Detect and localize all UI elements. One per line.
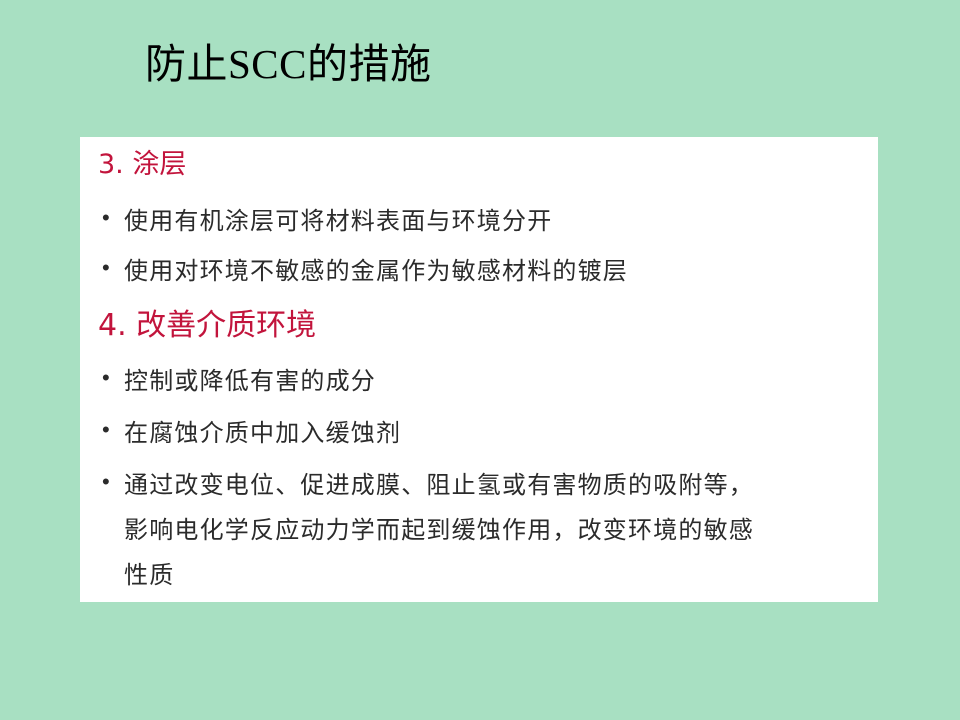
bullet-icon: • — [98, 411, 124, 449]
slide-canvas: 防止SCC的措施 3. 涂层 • 使用有机涂层可将材料表面与环境分开 • 使用对… — [0, 0, 960, 720]
content-card-inner: 3. 涂层 • 使用有机涂层可将材料表面与环境分开 • 使用对环境不敏感的金属作… — [80, 137, 878, 602]
list-item: • 通过改变电位、促进成膜、阻止氢或有害物质的吸附等， 影响电化学反应动力学而起… — [98, 463, 858, 598]
bullet-icon: • — [98, 249, 124, 287]
list-item-text: 通过改变电位、促进成膜、阻止氢或有害物质的吸附等， 影响电化学反应动力学而起到缓… — [124, 463, 858, 598]
bullet-icon: • — [98, 359, 124, 397]
list-item-text: 使用有机涂层可将材料表面与环境分开 — [124, 199, 858, 244]
bullet-icon: • — [98, 463, 124, 501]
list-item: • 在腐蚀介质中加入缓蚀剂 — [98, 411, 858, 456]
content-card: 3. 涂层 • 使用有机涂层可将材料表面与环境分开 • 使用对环境不敏感的金属作… — [80, 137, 878, 602]
page-title: 防止SCC的措施 — [145, 38, 432, 90]
bullet-icon: • — [98, 199, 124, 237]
list-item-text: 控制或降低有害的成分 — [124, 359, 858, 404]
list-item-text: 使用对环境不敏感的金属作为敏感材料的镀层 — [124, 249, 858, 294]
list-item: • 使用有机涂层可将材料表面与环境分开 — [98, 199, 858, 244]
list-item: • 使用对环境不敏感的金属作为敏感材料的镀层 — [98, 249, 858, 294]
list-item: • 控制或降低有害的成分 — [98, 359, 858, 404]
list-item-text: 在腐蚀介质中加入缓蚀剂 — [124, 411, 858, 456]
section-heading-coating: 3. 涂层 — [98, 148, 186, 182]
section-heading-environment: 4. 改善介质环境 — [98, 307, 316, 345]
